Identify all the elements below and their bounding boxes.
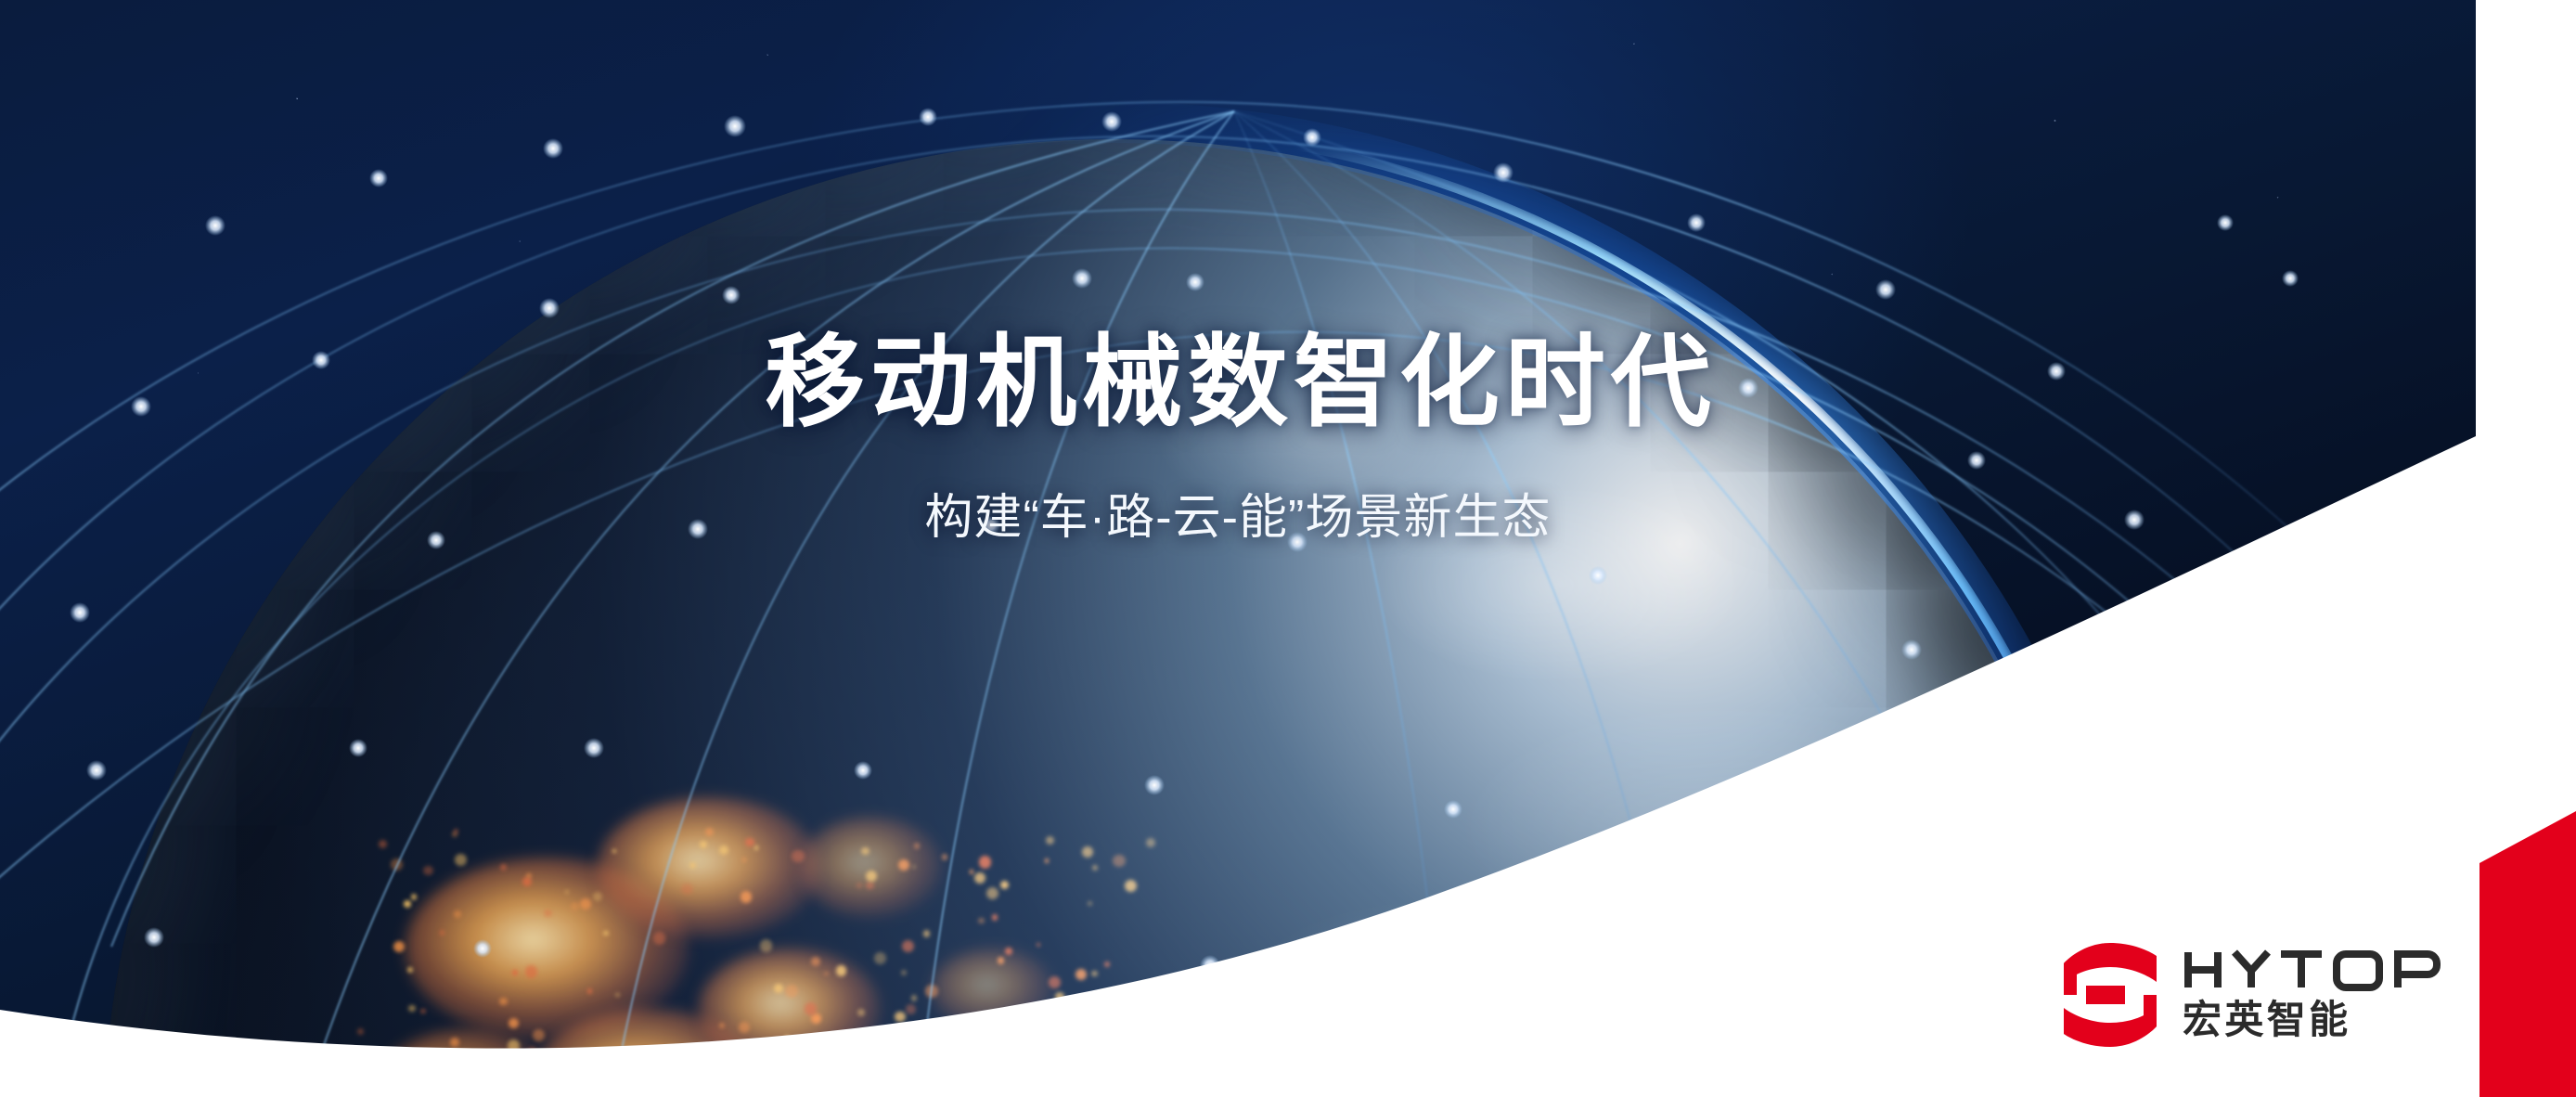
red-accent-band (2479, 811, 2576, 1097)
atmosphere-rim (87, 124, 2140, 1097)
white-right-margin (2476, 0, 2576, 1097)
logo-wordmark: 宏英智能 (2183, 949, 2446, 1041)
hytop-logo-mark-icon (2062, 937, 2158, 1052)
title-slide: 移动机械数智化时代 构建“车·路-云-能”场景新生态 (0, 0, 2576, 1097)
hytop-latin-wordmark-icon (2183, 949, 2446, 991)
hytop-chinese-wordmark: 宏英智能 (2183, 999, 2446, 1041)
background-photo: 移动机械数智化时代 构建“车·路-云-能”场景新生态 (0, 0, 2476, 1097)
brand-logo: 宏英智能 (2062, 937, 2446, 1052)
earth-globe (102, 139, 2125, 1097)
